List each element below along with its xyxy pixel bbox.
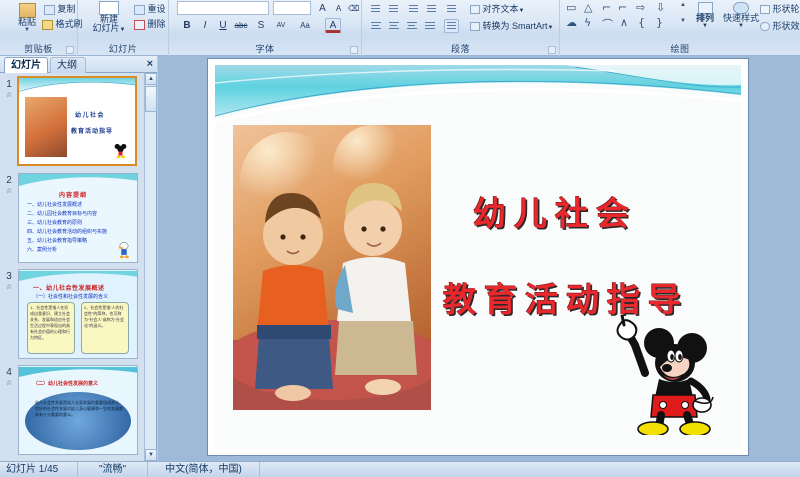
scroll-down-button[interactable]: ▼	[145, 449, 157, 461]
bold-button[interactable]: B	[179, 18, 195, 33]
slide-thumbnail-1[interactable]: 幼儿社会 教育活动指导	[17, 76, 137, 166]
reset-slide-button[interactable]: 重设	[134, 2, 166, 15]
thumbnail-star-icon-3: ☆	[2, 282, 16, 293]
status-language[interactable]: 中文(简体，中国)	[148, 462, 260, 477]
numbering-button[interactable]	[386, 2, 401, 16]
shape-right-brace-icon[interactable]: }	[656, 16, 663, 29]
delete-label: 删除	[148, 19, 166, 29]
thumbnail-number-2: 2 ☆	[2, 175, 16, 197]
mini-photo-1	[25, 97, 67, 157]
bullets-button[interactable]	[368, 2, 383, 16]
thumbnail-row-3[interactable]: 3 ☆ 一、幼儿社会性发展概述 （一）社会性和社会性发展的含义 1、社会性是指人…	[0, 267, 145, 362]
shape-elbow-icon[interactable]: ⌐	[602, 1, 611, 14]
shape-effects-icon	[760, 22, 770, 31]
copy-icon	[44, 5, 55, 15]
new-slide-label-2: 幻灯片▼	[86, 24, 132, 33]
paragraph-dialog-launcher[interactable]	[548, 46, 556, 54]
shapes-scroll-more[interactable]: ▼	[680, 18, 686, 24]
drawing-group-label: 绘图	[560, 42, 800, 55]
slides-pane: 幻灯片 大纲 × 1 ☆	[0, 56, 157, 461]
format-painter-button[interactable]: 格式刷	[42, 17, 83, 30]
character-spacing-button[interactable]: AV	[271, 18, 291, 33]
tab-slides[interactable]: 幻灯片	[4, 57, 48, 73]
shrink-font-button[interactable]: A	[331, 1, 346, 16]
mini-wave-3	[19, 270, 137, 282]
reset-label: 重设	[148, 4, 166, 14]
slides-pane-scrollbar[interactable]: ▲ ▼	[144, 73, 156, 461]
mini-title-2: 内容提纲	[59, 190, 87, 199]
ribbon-group-paragraph: 对齐文本▼ 转换为 SmartArt▼ 段落	[362, 0, 560, 56]
mini-title-3: 一、幼儿社会性发展概述	[33, 283, 105, 292]
mini-box-3-2: 2、社会性是指“人的社会性”的简称，也可称为“社会人”或称为“社会化”的涵义。	[81, 302, 129, 354]
quick-styles-label: 快速样式	[722, 14, 760, 23]
tab-outline[interactable]: 大纲	[50, 57, 86, 73]
mini-bullet-2-6: 六、案例分析	[27, 246, 107, 255]
arrange-button[interactable]: 排列 ▼	[690, 2, 720, 30]
thumbnail-star-icon-1: ☆	[2, 90, 16, 101]
align-left-button[interactable]	[368, 19, 383, 33]
slide-thumbnail-4[interactable]: （二）幼儿社会性发展的意义 幼儿社会性发展是幼儿全面发展的重要组成部分，良好的社…	[18, 365, 138, 455]
close-pane-button[interactable]: ×	[147, 58, 153, 70]
arrange-dropdown-arrow[interactable]: ▼	[690, 23, 720, 29]
shape-lightning-icon[interactable]: ϟ	[584, 16, 591, 29]
shape-effects-label: 形状效果	[773, 21, 800, 31]
delete-slide-button[interactable]: 删除	[134, 17, 166, 30]
paste-label: 粘贴	[8, 18, 46, 27]
reset-icon	[134, 5, 145, 15]
mini-wave-2	[19, 174, 137, 188]
underline-button[interactable]: U	[215, 18, 231, 33]
mini-title-1a: 幼儿社会	[75, 110, 105, 119]
new-slide-button[interactable]: 新建 幻灯片▼	[86, 1, 132, 34]
quick-styles-dropdown-arrow[interactable]: ▼	[722, 23, 760, 29]
change-case-button[interactable]: Aa	[295, 18, 315, 33]
font-size-combo[interactable]	[273, 1, 311, 15]
shape-rectangle-icon[interactable]: ▭	[566, 1, 576, 14]
columns-button[interactable]	[444, 19, 459, 33]
mini-wave-4	[19, 366, 137, 378]
ribbon-group-drawing: ▭ △ ⌐ ⌐ ⇨ ⇩ ☁ ϟ ⌒ ∧ { } ▲ ▼ 排列 ▼	[560, 0, 800, 56]
paste-button[interactable]: 粘贴 ▼	[8, 3, 46, 34]
convert-smartart-label: 转换为 SmartArt	[483, 21, 548, 31]
ribbon-group-clipboard: 粘贴 ▼ 复制 格式刷 剪贴板	[0, 0, 78, 56]
slide-wave-decoration	[215, 65, 741, 127]
thumbnail-star-icon-2: ☆	[2, 186, 16, 197]
mini-oval-text-4: 幼儿社会性发展是幼儿全面发展的重要组成部分，良好的社会性发展对幼儿身心健康和一生…	[35, 400, 123, 444]
paste-icon	[19, 3, 36, 18]
line-spacing-button[interactable]	[444, 2, 459, 16]
shape-curve-icon[interactable]: ⌒	[602, 16, 613, 32]
slide-title-line-1[interactable]: 幼儿社会	[473, 187, 637, 235]
mini-title-1b: 教育活动指导	[71, 126, 113, 135]
delete-icon	[134, 20, 145, 30]
shape-outline-label: 形状轮廓	[773, 4, 800, 14]
ribbon-group-font: A A ⌫ B I U abc S AV Aa A 字体	[169, 0, 362, 56]
grow-font-button[interactable]: A	[315, 1, 330, 16]
mini-bullets-2: 一、幼儿社会性发展概述 二、幼儿园社会教育目标与内容 三、幼儿社会教育的原则 四…	[27, 201, 107, 255]
justify-button[interactable]	[422, 19, 437, 33]
font-family-combo[interactable]	[177, 1, 269, 15]
shape-outline-icon	[760, 5, 770, 14]
clipboard-dialog-launcher[interactable]	[66, 46, 74, 54]
arrange-label: 排列	[690, 14, 720, 23]
ribbon: 粘贴 ▼ 复制 格式刷 剪贴板 新建 幻灯片▼	[0, 0, 800, 56]
status-bar: 幻灯片 1/45 "流畅" 中文(简体，中国)	[0, 461, 800, 477]
ribbon-group-slides: 新建 幻灯片▼ 重设 删除 幻灯片	[78, 0, 169, 56]
shape-right-arrow-icon[interactable]: ⇨	[636, 1, 645, 14]
paste-dropdown-arrow[interactable]: ▼	[8, 27, 46, 33]
slides-pane-tabbar: 幻灯片 大纲 ×	[0, 56, 157, 73]
thumbnail-row-1[interactable]: 1 ☆ 幼儿社会	[0, 75, 145, 170]
align-right-button[interactable]	[404, 19, 419, 33]
mini-bullet-2-1: 一、幼儿社会性发展概述	[27, 201, 107, 210]
slide-thumbnail-3[interactable]: 一、幼儿社会性发展概述 （一）社会性和社会性发展的含义 1、社会性是指人在形成自…	[18, 269, 138, 359]
clear-formatting-button[interactable]: ⌫	[347, 1, 359, 16]
font-group-label: 字体	[169, 42, 361, 55]
shapes-gallery[interactable]: ▭ △ ⌐ ⌐ ⇨ ⇩ ☁ ϟ ⌒ ∧ { }	[564, 1, 679, 33]
mini-bullet-2-3: 三、幼儿社会教育的原则	[27, 219, 107, 228]
align-text-button[interactable]: 对齐文本▼	[470, 2, 524, 15]
slide-title-line-2[interactable]: 教育活动指导	[443, 273, 689, 321]
shape-effects-button[interactable]: 形状效果	[760, 19, 800, 32]
mini-box-3-1: 1、社会性是指人在形成自我意识、建立社会关系、发展和适应社会生活过程中表现出的具…	[27, 302, 75, 354]
shape-connector-icon[interactable]: ⌐	[618, 1, 627, 14]
format-painter-icon	[42, 20, 53, 30]
increase-indent-button[interactable]	[424, 2, 439, 16]
status-slide-counter[interactable]: 幻灯片 1/45	[0, 462, 78, 477]
shape-left-brace-icon[interactable]: {	[638, 16, 645, 29]
slide-thumbnail-2[interactable]: 内容提纲 一、幼儿社会性发展概述 二、幼儿园社会教育目标与内容 三、幼儿社会教育…	[18, 173, 138, 263]
new-slide-icon	[99, 1, 119, 15]
mini-bullet-2-4: 四、幼儿社会教育活动的组织与实施	[27, 228, 107, 237]
align-center-button[interactable]	[386, 19, 401, 33]
slide-canvas[interactable]: 幼儿社会 教育活动指导	[215, 65, 741, 449]
mini-title-4: （二）幼儿社会性发展的意义	[33, 380, 98, 387]
slide-thumbnail-list[interactable]: 1 ☆ 幼儿社会	[0, 73, 145, 461]
thumbnail-star-icon-4: ☆	[2, 378, 16, 389]
shape-outline-button[interactable]: 形状轮廓	[760, 2, 800, 15]
scroll-up-button[interactable]: ▲	[145, 73, 157, 85]
thumbnail-number-1: 1 ☆	[2, 79, 16, 101]
italic-button[interactable]: I	[197, 18, 213, 33]
copy-label: 复制	[58, 4, 76, 14]
mini-mickey-1	[114, 143, 127, 159]
mini-bullet-2-2: 二、幼儿园社会教育目标与内容	[27, 210, 107, 219]
strikethrough-button[interactable]: abc	[233, 18, 249, 33]
smartart-icon	[470, 22, 480, 31]
shape-cloud-icon[interactable]: ☁	[566, 16, 577, 29]
align-text-label: 对齐文本	[483, 4, 519, 14]
paragraph-group-label: 段落	[362, 42, 559, 55]
text-shadow-button[interactable]: S	[253, 18, 269, 33]
thumbnail-row-2[interactable]: 2 ☆ 内容提纲 一、幼儿社会性发展概述 二、幼儿园社会教育目标与内容 三	[0, 171, 145, 266]
quick-styles-button[interactable]: 快速样式 ▼	[722, 2, 760, 30]
shape-down-arrow-icon[interactable]: ⇩	[656, 1, 665, 14]
thumbnail-row-4[interactable]: 4 ☆ （二）幼儿社会性发展的意义 幼儿社会性发展是幼儿全面发展的重要组成部分，…	[0, 363, 145, 458]
slide-editing-area[interactable]: 幼儿社会 教育活动指导	[158, 56, 800, 461]
shape-triangle-icon[interactable]: △	[584, 1, 592, 14]
slides-group-label: 幻灯片	[78, 42, 168, 55]
current-slide[interactable]: 幼儿社会 教育活动指导	[208, 59, 748, 455]
shape-arc-icon[interactable]: ∧	[620, 16, 628, 29]
decrease-indent-button[interactable]	[406, 2, 421, 16]
shapes-scroll-up[interactable]: ▲	[680, 2, 686, 8]
font-dialog-launcher[interactable]	[350, 46, 358, 54]
mini-wave-1	[19, 78, 135, 95]
thumbnail-number-3: 3 ☆	[2, 271, 16, 293]
thumbnail-number-4: 4 ☆	[2, 367, 16, 389]
scrollbar-thumb[interactable]	[145, 86, 157, 112]
mini-bullet-2-5: 五、幼儿社会教育指导策略	[27, 237, 107, 246]
mini-donald-2	[117, 241, 131, 259]
align-text-icon	[470, 5, 480, 14]
powerpoint-window: 粘贴 ▼ 复制 格式刷 剪贴板 新建 幻灯片▼	[0, 0, 800, 477]
two-children-photo[interactable]	[233, 125, 431, 410]
status-theme-name[interactable]: "流畅"	[78, 462, 148, 477]
copy-button[interactable]: 复制	[44, 2, 76, 15]
mickey-mouse-clipart[interactable]	[597, 315, 715, 435]
font-color-button[interactable]: A	[325, 18, 341, 33]
convert-smartart-button[interactable]: 转换为 SmartArt▼	[470, 19, 553, 32]
mini-subtitle-3: （一）社会性和社会性发展的含义	[33, 293, 108, 300]
